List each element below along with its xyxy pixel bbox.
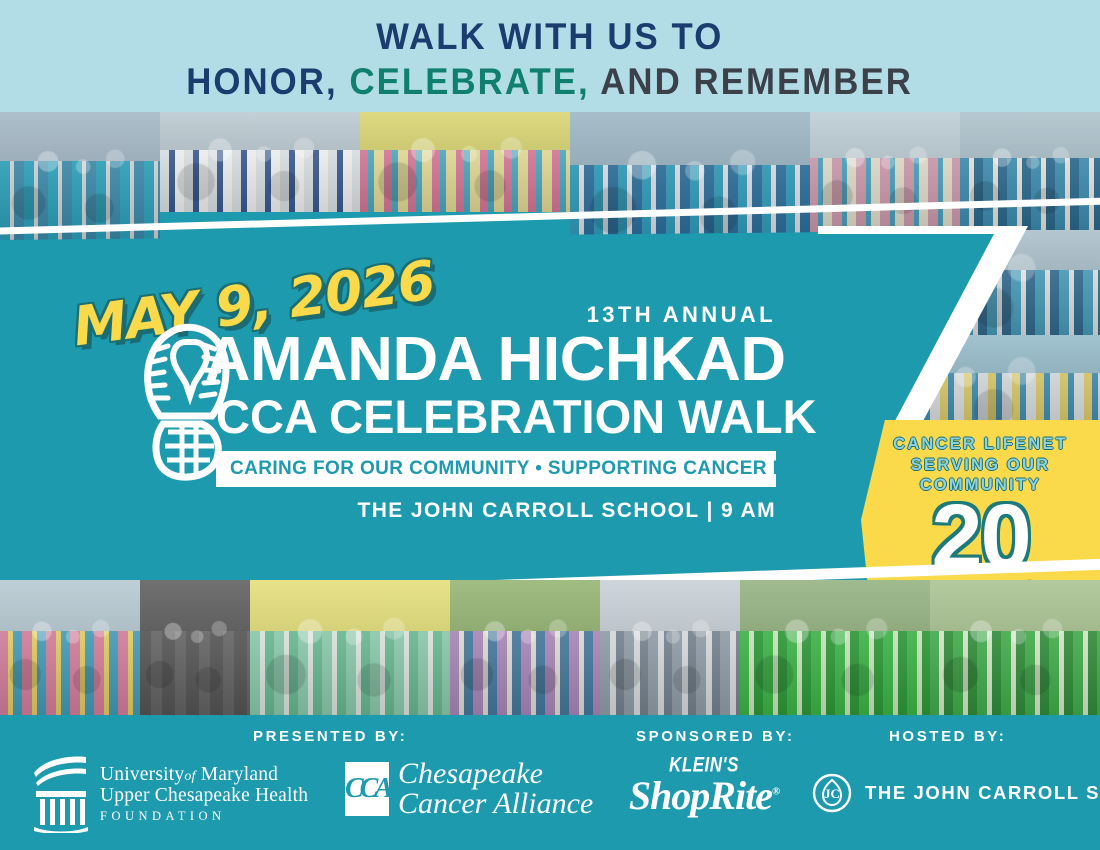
hosted-by-label: HOSTED BY:	[889, 728, 1006, 745]
tagline-text: CARING FOR OUR COMMUNITY • SUPPORTING CA…	[230, 458, 855, 479]
header-word-remember: AND REMEMBER	[601, 61, 914, 102]
um-line-2: Upper Chesapeake Health	[100, 786, 308, 807]
um-logo-text: Universityof Maryland Upper Chesapeake H…	[100, 765, 308, 823]
cca-logo-text: Chesapeake Cancer Alliance	[398, 759, 593, 819]
collage-photo	[360, 112, 570, 212]
logo-kleins-shoprite: KLEIN'S ShopRite®	[614, 755, 794, 815]
event-flyer: WALK WITH US TO HONOR, CELEBRATE, AND RE…	[0, 0, 1100, 850]
cca-line-2: Cancer Alliance	[398, 789, 593, 819]
collage-photo	[570, 112, 810, 252]
logo-chesapeake-cancer-alliance: CCA Chesapeake Cancer Alliance	[345, 759, 593, 819]
jcs-name-text: THE JOHN CARROLL SCHOOL	[865, 782, 1100, 804]
venue-time: THE JOHN CARROLL SCHOOL | 9 AM	[216, 499, 776, 523]
header-line-1: WALK WITH US TO	[376, 17, 723, 56]
jc-monogram-icon: JC	[812, 773, 852, 813]
shoprite-text: ShopRite®	[614, 777, 794, 815]
cca-line-1: Chesapeake	[398, 759, 593, 789]
sponsored-by-label: SPONSORED BY:	[636, 728, 795, 745]
flyer-header: WALK WITH US TO HONOR, CELEBRATE, AND RE…	[0, 0, 1100, 118]
collage-photo	[930, 580, 1100, 715]
badge-line-1: CANCER LIFENET	[861, 434, 1100, 455]
logo-um-upper-chesapeake-health: Universityof Maryland Upper Chesapeake H…	[30, 755, 308, 833]
badge-line-2: SERVING OUR	[861, 455, 1100, 476]
kleins-text: KLEIN'S	[669, 753, 739, 778]
collage-photo	[600, 580, 740, 715]
sponsor-footer: PRESENTED BY: SPONSORED BY: HOSTED BY:	[0, 715, 1100, 850]
event-title-block: 13TH ANNUAL AMANDA HICHKAD CCA CELEBRATI…	[216, 302, 776, 523]
tagline-banner: CARING FOR OUR COMMUNITY • SUPPORTING CA…	[216, 451, 776, 487]
logo-john-carroll-school: JC THE JOHN CARROLL SCHOOL	[812, 773, 1100, 813]
photo-collage-bottom	[0, 580, 1100, 715]
header-line-2: HONOR, CELEBRATE, AND REMEMBER	[187, 62, 914, 101]
cca-monogram-text: CCA	[345, 773, 389, 805]
header-word-celebrate: CELEBRATE,	[350, 61, 590, 102]
column-icon	[30, 755, 90, 833]
collage-photo	[960, 112, 1100, 232]
presented-by-label: PRESENTED BY:	[253, 728, 407, 745]
collage-photo	[0, 580, 140, 715]
collage-photo	[810, 112, 960, 232]
event-subtitle: CCA CELEBRATION WALK	[216, 392, 776, 441]
um-line-3: FOUNDATION	[100, 810, 308, 823]
collage-photo-banner	[140, 580, 250, 715]
collage-photo	[160, 112, 360, 212]
collage-photo	[250, 580, 450, 715]
collage-photo	[450, 580, 600, 715]
um-line-1: Universityof Maryland	[100, 765, 308, 786]
cca-monogram: CCA	[345, 762, 389, 816]
event-title: AMANDA HICHKAD	[205, 330, 776, 390]
header-word-honor: HONOR,	[187, 61, 339, 102]
svg-text:JC: JC	[824, 786, 840, 801]
collage-photo	[740, 580, 930, 715]
collage-photo	[0, 112, 160, 242]
